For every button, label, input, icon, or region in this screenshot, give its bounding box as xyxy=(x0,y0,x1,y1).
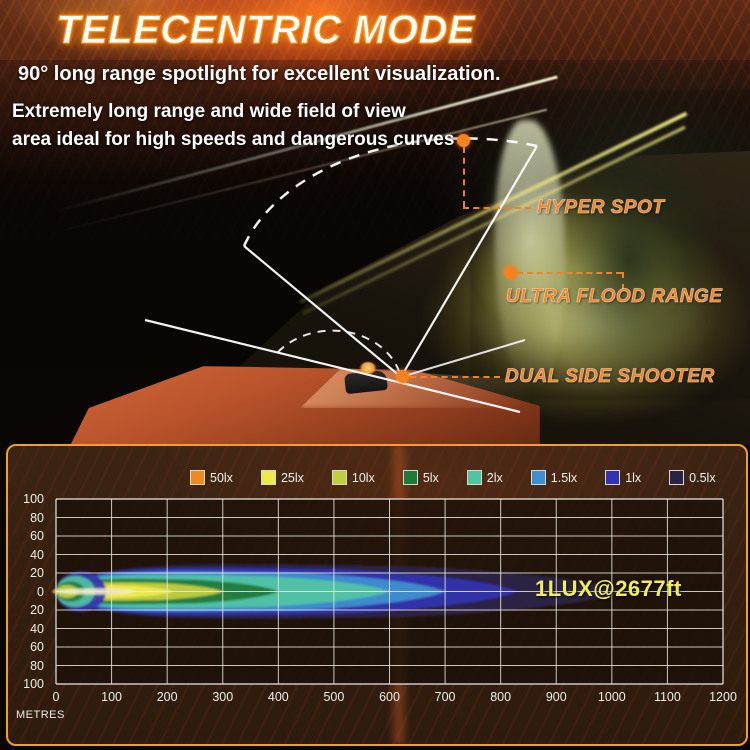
callout-label-dual-side-shooter: DUAL SIDE SHOOTER xyxy=(505,366,715,388)
x-tick-label: 800 xyxy=(490,690,511,704)
x-tick-label: 600 xyxy=(379,690,400,704)
x-tick-label: 500 xyxy=(323,690,344,704)
x-tick-label: 0 xyxy=(53,690,60,704)
x-tick-label: 100 xyxy=(101,690,122,704)
page-title: TELECENTRIC MODE xyxy=(56,8,475,53)
x-tick-label: 1200 xyxy=(709,690,737,704)
hyper-spot-marker-dot xyxy=(457,134,470,147)
x-axis-title: METRES xyxy=(16,709,65,721)
callout-label-hyper-spot: HYPER SPOT xyxy=(537,197,664,219)
hyper-spot-leader-vertical xyxy=(463,147,465,207)
dual-side-shooter-leader xyxy=(410,376,500,378)
ultra-flood-leader-horizontal xyxy=(517,272,622,274)
x-tick-label: 1100 xyxy=(654,690,681,704)
x-tick-label: 200 xyxy=(157,690,178,704)
subtitle-text: 90° long range spotlight for excellent v… xyxy=(18,62,638,87)
x-tick-label: 1000 xyxy=(598,690,626,704)
product-infographic: TELECENTRIC MODE 90° long range spotligh… xyxy=(0,0,750,750)
callout-label-ultra-flood-range: ULTRA FLOOD RANGE xyxy=(506,286,722,308)
description-line-1: Extremely long range and wide field of v… xyxy=(12,98,632,126)
lux-distance-annotation: 1LUX@2677ft xyxy=(535,576,682,602)
hero-night-road-photo: TELECENTRIC MODE 90° long range spotligh… xyxy=(0,0,750,445)
hyper-spot-leader-horizontal xyxy=(463,207,531,209)
dual-side-shooter-marker-dot xyxy=(396,370,409,383)
x-tick-label: 900 xyxy=(546,690,567,704)
description-line-2: area ideal for high speeds and dangerous… xyxy=(12,126,632,154)
x-tick-label: 300 xyxy=(212,690,233,704)
ultra-flood-marker-dot xyxy=(504,266,517,279)
side-marker-lamp xyxy=(360,362,376,374)
x-tick-label: 700 xyxy=(435,690,456,704)
x-tick-label: 400 xyxy=(268,690,289,704)
description-text: Extremely long range and wide field of v… xyxy=(12,98,632,153)
